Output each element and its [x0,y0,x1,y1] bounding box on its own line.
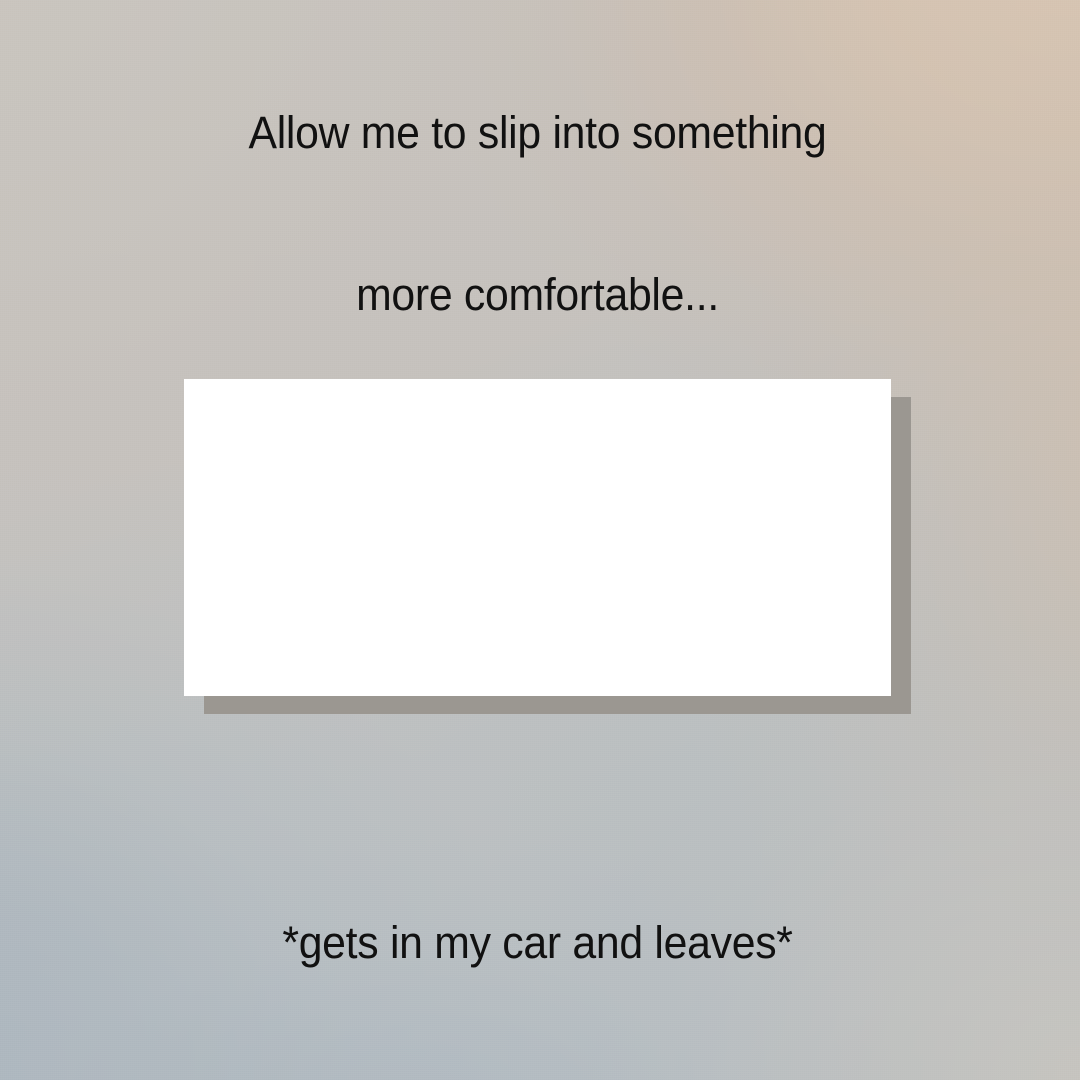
meme-line-2: more comfortable... [211,268,864,322]
meme-paragraph-gap [211,592,864,646]
meme-line-3: *gets in my car and leaves* [211,916,864,970]
meme-text-block: Allow me to slip into something more com… [211,0,864,1080]
white-meme-card: Allow me to slip into something more com… [184,379,891,696]
meme-card-container: Allow me to slip into something more com… [184,379,891,696]
image-canvas: Allow me to slip into something more com… [0,0,1080,1080]
meme-line-1: Allow me to slip into something [211,106,864,160]
meme-setup-paragraph: Allow me to slip into something more com… [211,0,864,430]
meme-punchline-paragraph: *gets in my car and leaves* [211,808,864,1078]
